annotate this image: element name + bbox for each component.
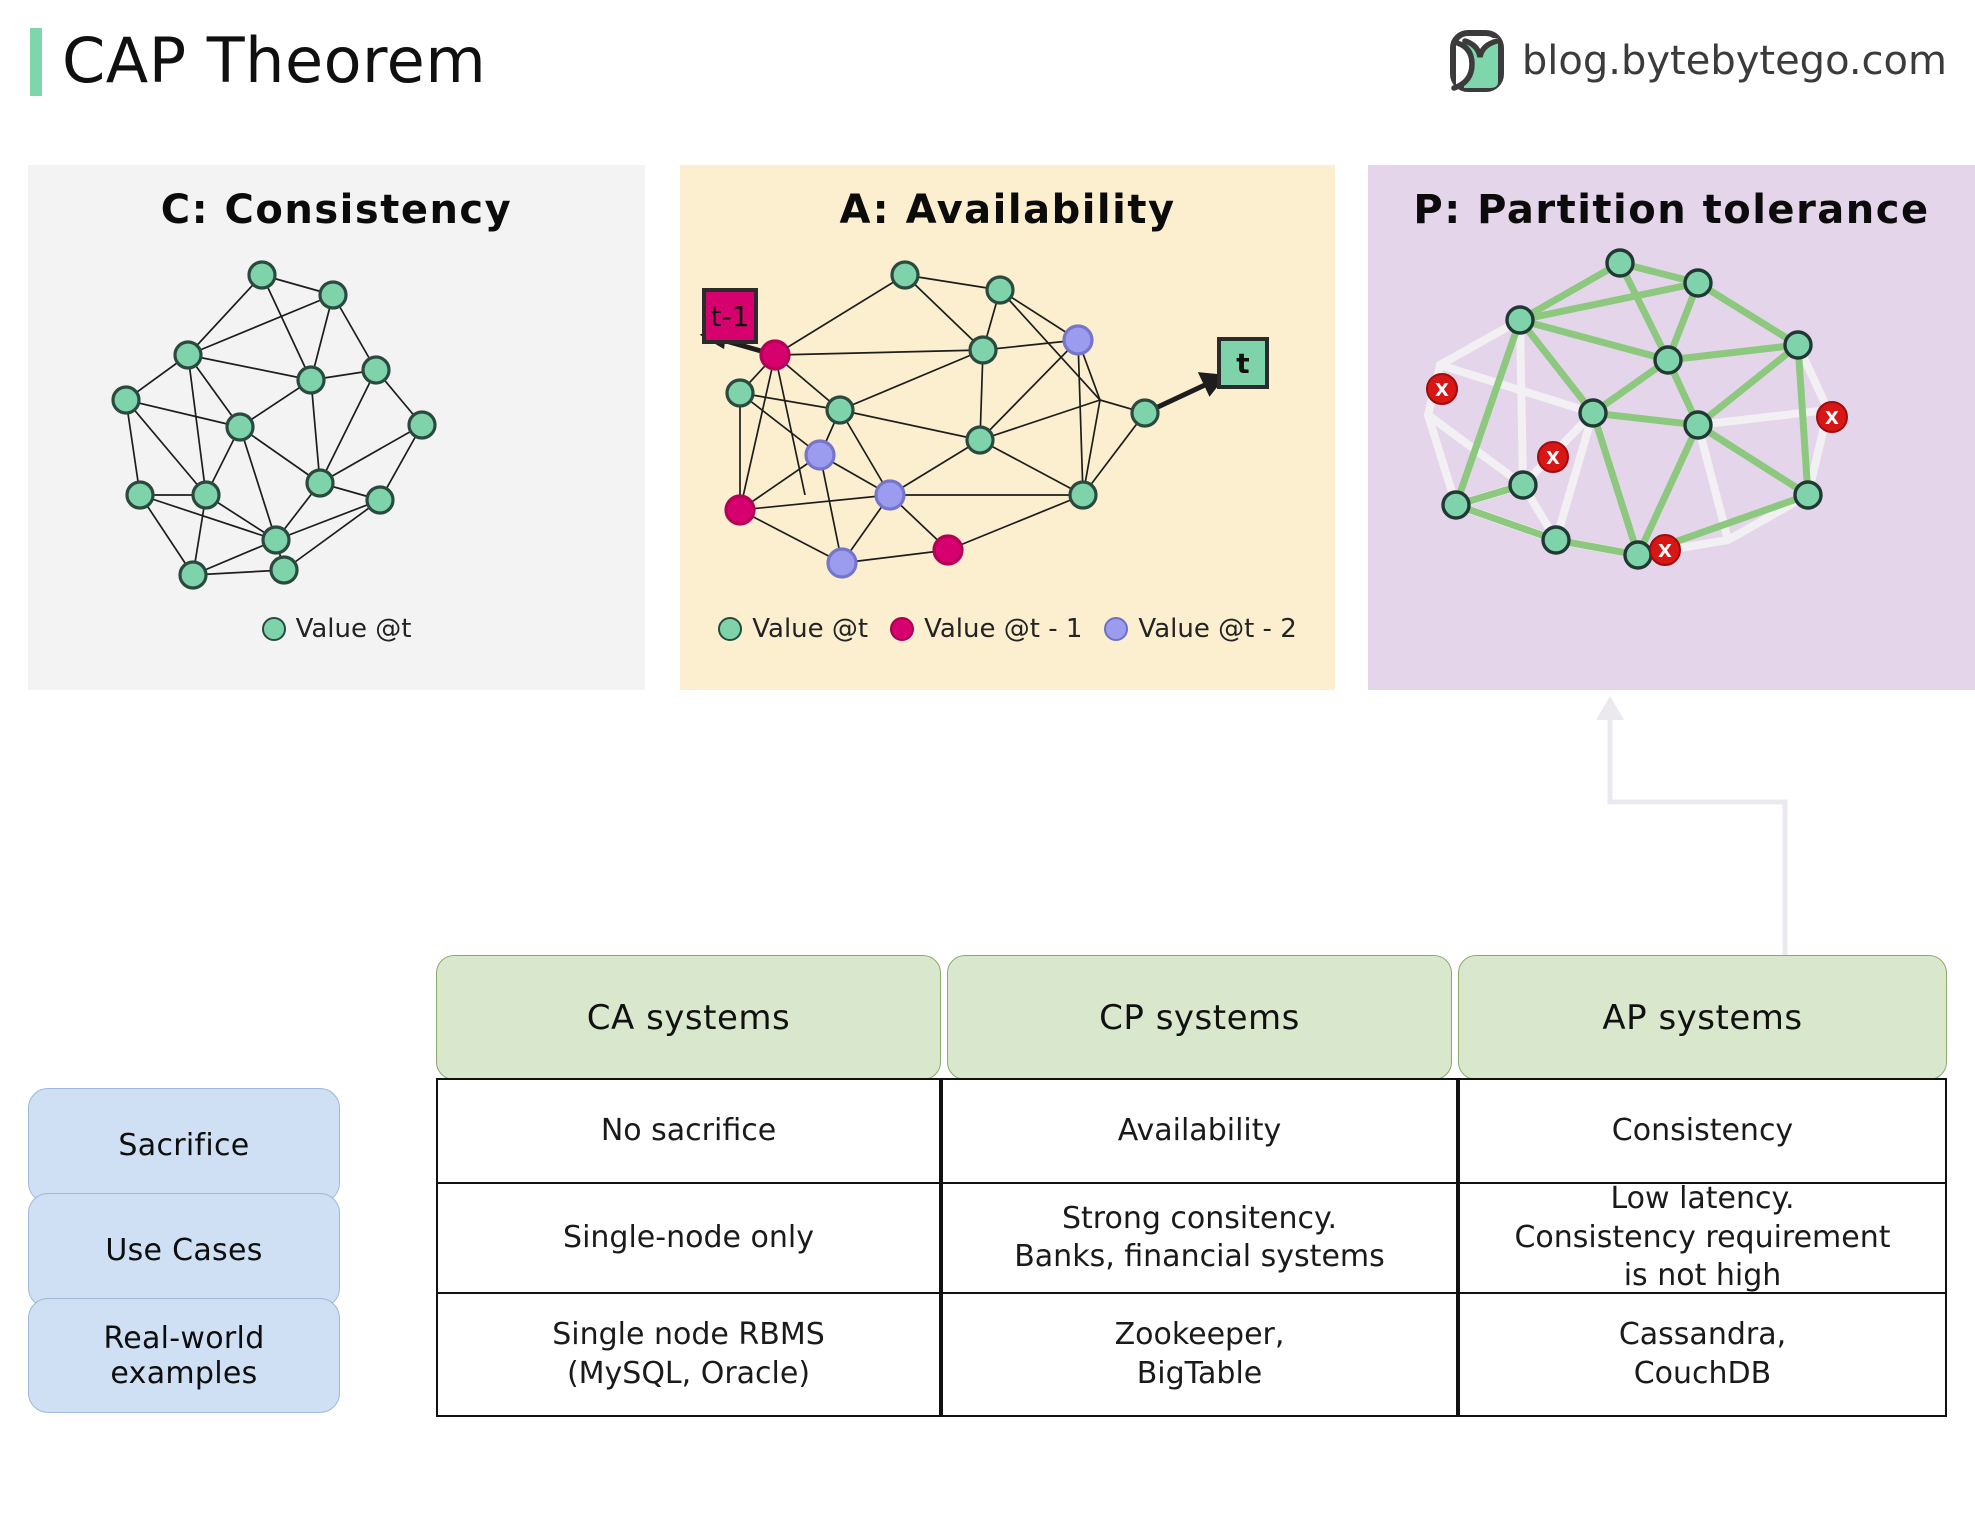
row-label-text: Real-world examples [29,1321,339,1391]
page-title: CAP Theorem [62,24,486,97]
title-accent-bar [30,28,42,96]
legend-swatch-value-at-t-1 [890,617,914,641]
table-header-label: CP systems [1099,998,1300,1038]
bytebytego-logo-icon [1450,30,1504,92]
availability-legend: Value @t Value @t - 1 Value @t - 2 [680,614,1335,644]
table-rule-bottom [436,1415,1947,1417]
table-header-label: CA systems [587,998,790,1038]
table-cell: Single node RBMS(MySQL, Oracle) [436,1294,941,1415]
cap-comparison-table: CA systems CP systems AP systems Sacrifi… [0,955,1975,1515]
partition-tolerance-network-graph: X X X X [1368,165,1975,690]
table-header-cp: CP systems [947,955,1452,1080]
table-header-ca: CA systems [436,955,941,1080]
ap-to-partition-connector [1580,690,1840,960]
legend-label: Value @t [752,614,868,644]
legend-swatch-value-at-t [718,617,742,641]
table-header-label: AP systems [1602,998,1802,1038]
availability-network-graph [680,165,1335,690]
panel-partition-tolerance: P: Partition tolerance [1368,165,1975,690]
badge-t-label: t [1236,347,1249,380]
legend-swatch-value-at-t-2 [1104,617,1128,641]
table-cell-text: Strong consitency.Banks, financial syste… [1014,1200,1385,1277]
legend-item: Value @t - 1 [890,614,1082,644]
legend-label: Value @t [296,614,412,644]
consistency-network-graph [28,165,645,690]
table-cell: Low latency.Consistency requirementis no… [1458,1184,1947,1292]
row-label-text: Use Cases [105,1233,262,1268]
row-label-real-world-examples: Real-world examples [28,1298,340,1413]
page-header: CAP Theorem blog.bytebytego.com [0,0,1975,130]
table-cell-text: No sacrifice [601,1112,776,1150]
table-header-ap: AP systems [1458,955,1947,1080]
table-cell-text: Availability [1118,1112,1282,1150]
legend-label: Value @t - 2 [1138,614,1296,644]
svg-text:X: X [1825,408,1839,429]
row-label-sacrifice: Sacrifice [28,1088,340,1203]
brand-url: blog.bytebytego.com [1522,38,1947,84]
legend-label: Value @t - 1 [924,614,1082,644]
badge-t-minus-1: t-1 [702,288,758,344]
table-cell: No sacrifice [436,1080,941,1182]
table-cell-text: Consistency [1612,1112,1793,1150]
svg-text:X: X [1546,448,1560,469]
badge-t: t [1217,337,1269,389]
panel-consistency: C: Consistency [28,165,645,690]
legend-item: Value @t [718,614,868,644]
legend-item: Value @t - 2 [1104,614,1296,644]
table-cell-text: Single-node only [563,1219,814,1257]
row-label-use-cases: Use Cases [28,1193,340,1308]
table-cell: Cassandra,CouchDB [1458,1294,1947,1415]
table-cell: Single-node only [436,1184,941,1292]
table-cell-text: Zookeeper,BigTable [1115,1316,1285,1393]
legend-swatch-value-at-t [262,617,286,641]
table-cell: Availability [941,1080,1458,1182]
panel-availability: A: Availability [680,165,1335,690]
svg-text:X: X [1658,541,1672,562]
table-cell: Strong consitency.Banks, financial syste… [941,1184,1458,1292]
svg-text:X: X [1435,380,1449,401]
table-cell-text: Cassandra,CouchDB [1619,1316,1786,1393]
row-label-text: Sacrifice [118,1128,249,1163]
badge-t-minus-1-label: t-1 [711,300,750,333]
table-cell-text: Low latency.Consistency requirementis no… [1514,1180,1890,1295]
brand-block: blog.bytebytego.com [1450,30,1947,92]
table-cell: Consistency [1458,1080,1947,1182]
table-cell-text: Single node RBMS(MySQL, Oracle) [552,1316,825,1393]
table-cell: Zookeeper,BigTable [941,1294,1458,1415]
legend-item: Value @t [262,614,412,644]
consistency-legend: Value @t [28,614,645,644]
